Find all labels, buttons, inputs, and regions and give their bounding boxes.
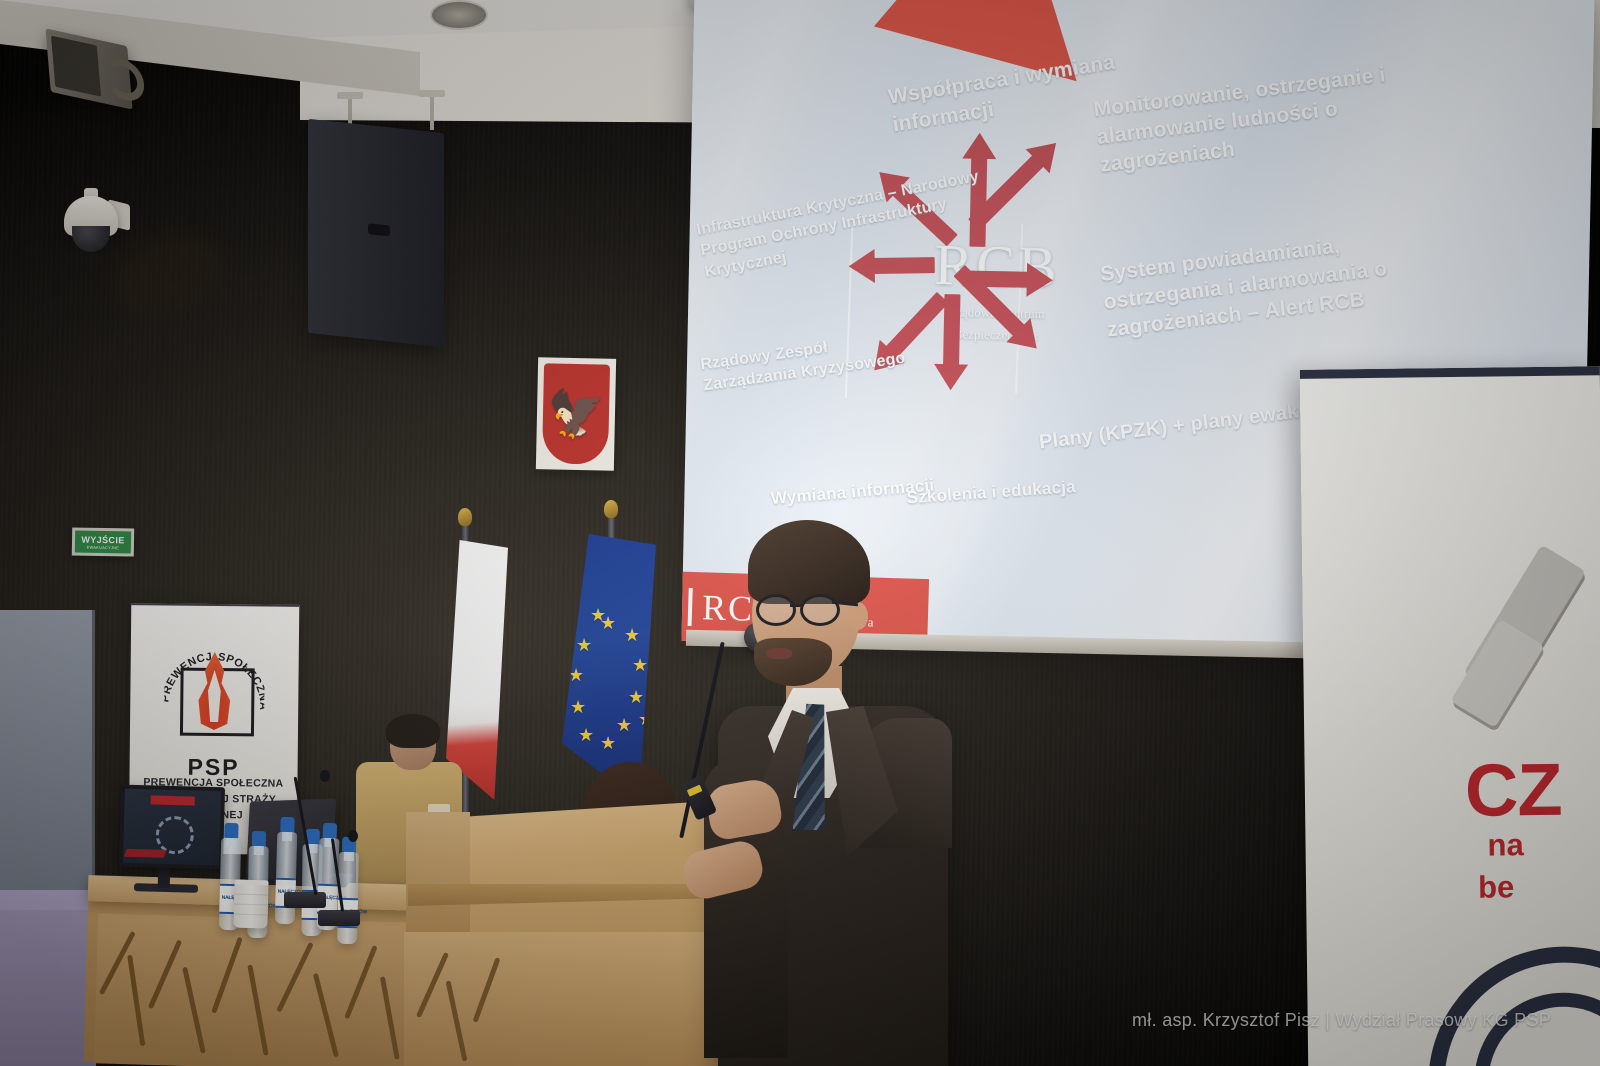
panel-slash — [247, 964, 268, 1055]
flag-finial-poland — [458, 508, 472, 526]
panel-slash — [344, 945, 377, 1019]
desk-monitor[interactable] — [119, 785, 225, 870]
slide-label-rzadowy-zespol: Rządowy Zespół Zarządzania Kryzysowego — [699, 325, 923, 398]
rcb-subtitle-line2: Bezpieczeństwa — [906, 323, 1086, 346]
monitor-stand — [158, 866, 171, 888]
clicker-button[interactable] — [687, 785, 703, 797]
exit-sign-line2: EWAKUACYJNE — [87, 544, 120, 550]
emergency-exit-sign: WYJŚCIE EWAKUACYJNE — [72, 527, 134, 556]
speaker-ceiling-plate — [337, 92, 363, 99]
ptz-dome-camera-icon — [64, 196, 130, 252]
speaker-grill — [51, 36, 101, 97]
right-banner-line2: na — [1487, 827, 1524, 863]
side-door[interactable] — [0, 610, 95, 910]
monitor-red-banner — [151, 795, 195, 805]
emblem-shield: 🦅 — [542, 363, 610, 464]
ceiling-speaker — [308, 119, 444, 347]
speaker-ceiling-plate — [419, 90, 445, 97]
ceiling-downlight — [430, 0, 488, 30]
panel-slash — [211, 937, 243, 1014]
rollup-top-rail — [131, 603, 299, 607]
monitor-red-stripe — [124, 849, 167, 858]
psp-logo: PREWENCJA SPOŁECZNA PSP — [164, 643, 265, 730]
desk-side-panel — [0, 890, 96, 1066]
presenter-hair — [748, 520, 870, 604]
panel-slash — [276, 942, 313, 1013]
polish-coat-of-arms: 🦅 — [536, 357, 616, 471]
officer-hair — [386, 714, 440, 748]
white-eagle-icon: 🦅 — [547, 390, 605, 437]
lectern-slash — [416, 952, 449, 1018]
lectern-slash — [473, 957, 501, 1023]
lectern-slash — [446, 980, 468, 1061]
presenter-person — [690, 520, 950, 1066]
presenter-mouth — [766, 648, 792, 659]
conference-room-photo: WYJŚCIE EWAKUACYJNE 🦅 RCB Rządowe Centru… — [0, 0, 1600, 1066]
rcb-center-logo: RCB Rządowe Centrum Bezpieczeństwa — [906, 235, 1088, 346]
right-banner-headline: CZ — [1464, 747, 1562, 833]
panel-slash — [148, 939, 182, 1009]
eyeglasses-icon — [756, 594, 844, 620]
stacked-paper-cups — [233, 880, 268, 929]
panel-slash — [182, 967, 206, 1054]
right-rollup-banner: CZ na be — [1300, 366, 1600, 1066]
monitor-screen — [123, 789, 221, 865]
speaker-suspension-rod — [430, 96, 434, 130]
photo-credit-watermark: mł. asp. Krzysztof Pisz | Wydział Prasow… — [1132, 1010, 1551, 1031]
lectern-left-face — [406, 812, 470, 940]
cup-rim — [235, 880, 269, 886]
water-bottle: NAŁĘCZÓW — [275, 832, 298, 925]
flag-finial-eu — [604, 500, 618, 518]
panel-slash — [380, 976, 400, 1060]
right-banner-line3: be — [1478, 869, 1515, 905]
presenter-ear — [848, 602, 868, 630]
panel-slash — [127, 955, 145, 1047]
speaker-logo-badge — [368, 223, 390, 236]
loading-spinner-icon — [155, 816, 194, 855]
panel-slash — [313, 973, 339, 1058]
camera-lens-dome — [72, 226, 110, 252]
slide-label-system-alert: System powiadamiania, ostrzegania i alar… — [1099, 224, 1417, 345]
